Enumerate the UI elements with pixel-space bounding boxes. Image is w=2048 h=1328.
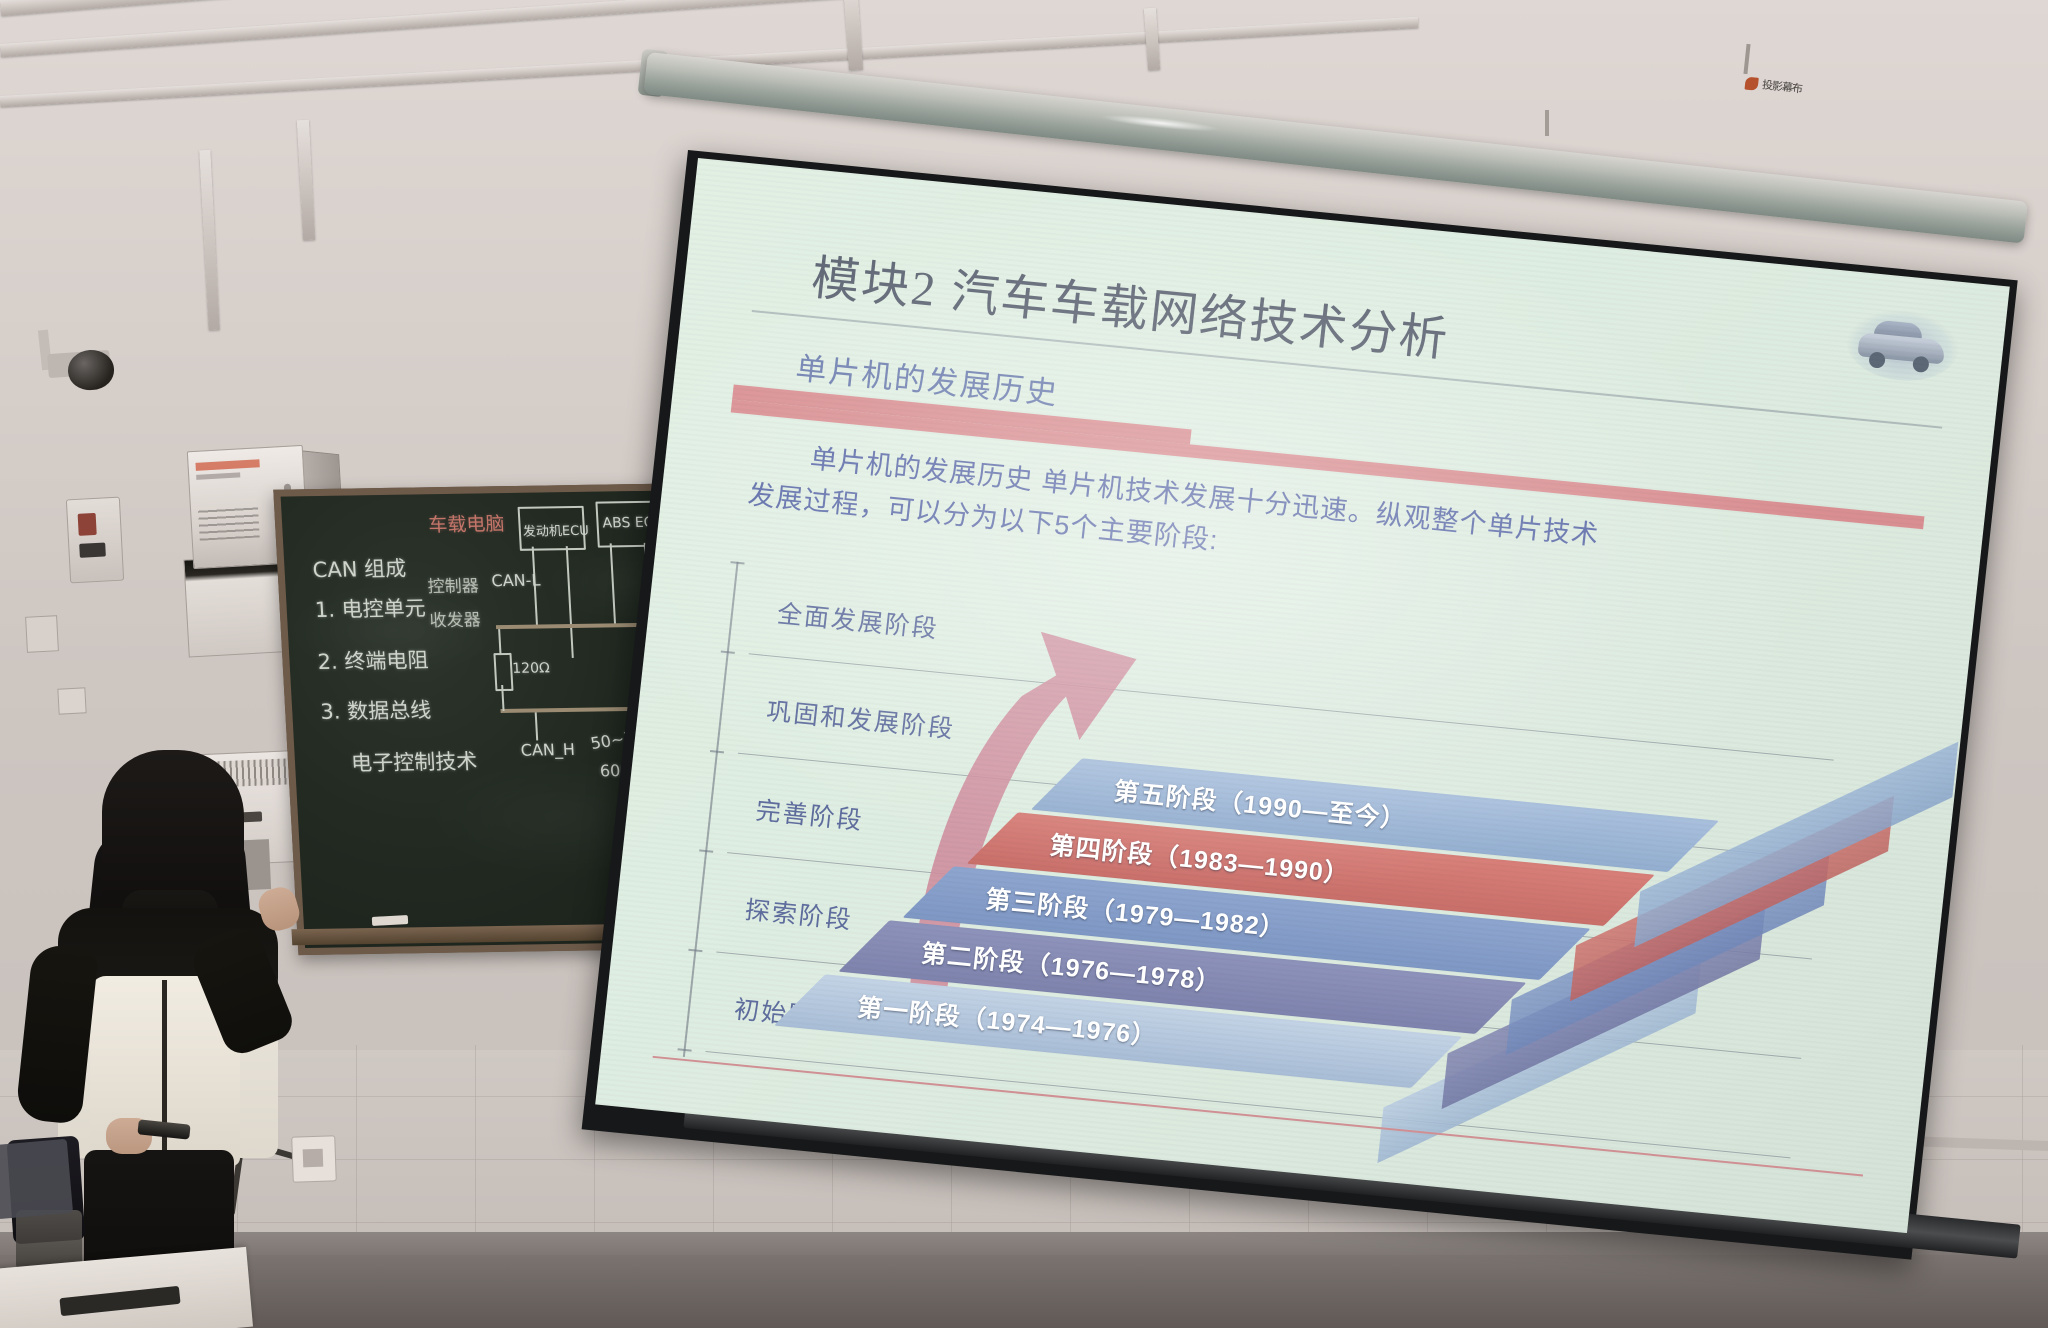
chair <box>0 1139 73 1219</box>
car-logo-icon <box>1843 305 1962 386</box>
blackboard-item-1: 1. 电控单元 <box>314 592 426 624</box>
brand-mark-icon <box>1745 76 1759 90</box>
bus-low-label: CAN-L <box>491 571 541 591</box>
blackboard-branch-bottom: 收发器 <box>429 605 481 631</box>
blackboard-branch-top: 控制器 <box>427 571 479 597</box>
blackboard-item-4: 电子控制技术 <box>350 745 478 777</box>
resistor-left <box>493 653 513 691</box>
switch-block <box>79 542 106 557</box>
slide-title: 模块2 汽车车载网络技术分析 <box>809 238 1454 370</box>
car-wheel <box>1868 351 1886 368</box>
blackboard-item-3: 3. 数据总线 <box>319 694 431 726</box>
blackboard-topic: CAN 组成 <box>312 553 407 584</box>
screenshot-root: 车载电脑 CAN 组成 1. 电控单元 控制器 收发器 2. 终端电阻 3. 数… <box>0 0 2048 1328</box>
wall-box-small <box>25 615 59 653</box>
wall-switch-panel[interactable] <box>66 497 124 584</box>
stage-diagram: 全面发展阶段 巩固和发展阶段 完善阶段 探索阶段 初始阶段 <box>643 552 1943 1191</box>
car-wheel <box>1912 356 1930 373</box>
bus-high-label: CAN_H <box>520 740 575 760</box>
blackboard-item-2: 2. 终端电阻 <box>317 644 429 676</box>
projector-screen[interactable]: 模块2 汽车车载网络技术分析 单片机的发展历史 单片机的发展历史 单片机技术发展… <box>595 158 2010 1233</box>
presenter <box>10 740 310 1328</box>
blackboard-header: 车载电脑 <box>428 509 506 537</box>
chalk-stick[interactable] <box>372 915 408 926</box>
cabinet-notice-text <box>198 503 260 540</box>
resistor-left-label: 120Ω <box>512 660 550 677</box>
indicator-red <box>78 513 97 536</box>
ecu-label-engine: 发动机ECU <box>522 520 589 540</box>
ceiling-hook <box>1545 110 1549 136</box>
slide-content: 模块2 汽车车载网络技术分析 单片机的发展历史 单片机的发展历史 单片机技术发展… <box>595 158 2010 1233</box>
wall-box-small <box>57 687 86 714</box>
